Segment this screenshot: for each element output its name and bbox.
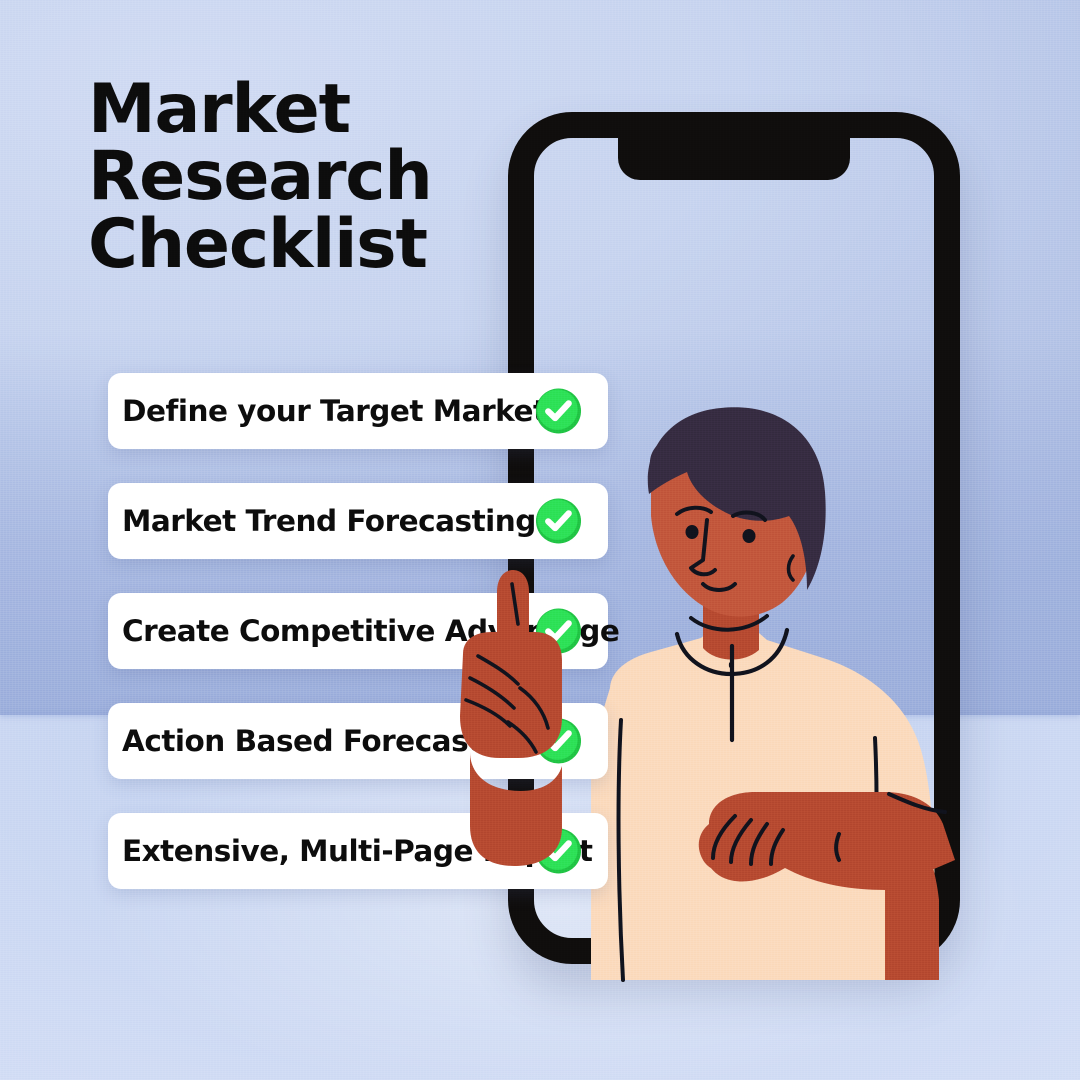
check-circle-icon[interactable] <box>535 608 582 655</box>
checklist-item-label: Market Trend Forecasting <box>108 504 536 538</box>
checklist-item-3[interactable]: Create Competitive Advantage <box>108 593 608 669</box>
check-circle-icon[interactable] <box>535 388 582 435</box>
check-circle-icon[interactable] <box>535 828 582 875</box>
check-circle-icon[interactable] <box>535 498 582 545</box>
checklist-item-4[interactable]: Action Based Forecasting <box>108 703 608 779</box>
checklist-item-label: Define your Target Market <box>108 394 547 428</box>
poster-canvas: Market Research Checklist Define your Ta… <box>0 0 1080 1080</box>
checklist-item-label: Extensive, Multi-Page Report <box>108 834 593 868</box>
checklist-item-label: Action Based Forecasting <box>108 724 532 758</box>
checklist: Define your Target Market Market Trend F… <box>108 373 608 889</box>
checklist-item-2[interactable]: Market Trend Forecasting <box>108 483 608 559</box>
checklist-item-1[interactable]: Define your Target Market <box>108 373 608 449</box>
checklist-item-5[interactable]: Extensive, Multi-Page Report <box>108 813 608 889</box>
page-title: Market Research Checklist <box>88 76 518 278</box>
phone-notch <box>618 112 850 180</box>
check-circle-icon[interactable] <box>535 718 582 765</box>
